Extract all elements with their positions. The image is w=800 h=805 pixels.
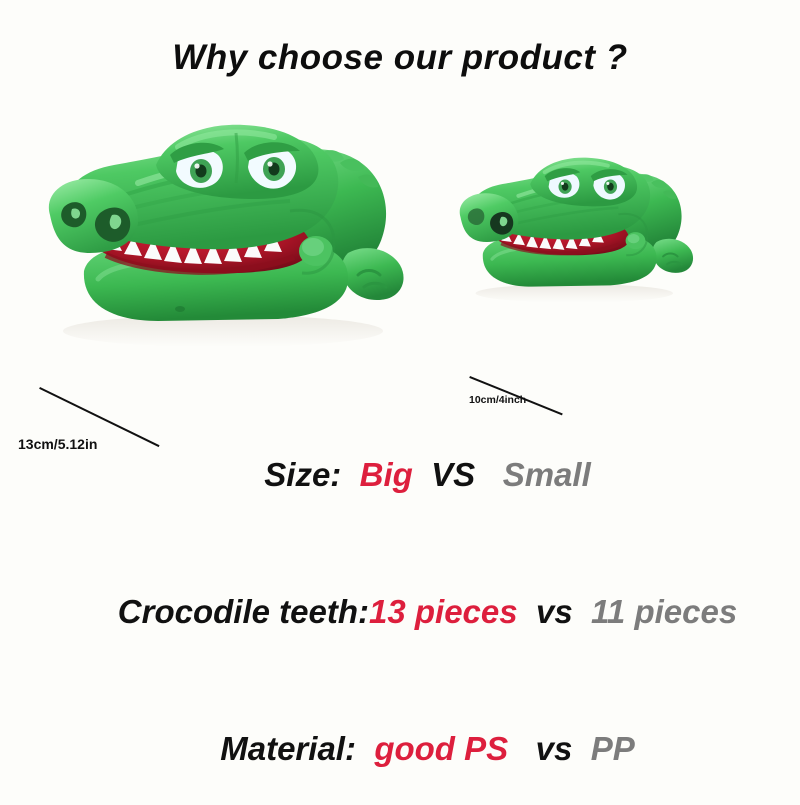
row-size-key: Size: <box>264 456 341 493</box>
row-size-gap1 <box>341 456 359 493</box>
comparison-row-teeth: Crocodile teeth:13 pieces vs 11 pieces <box>0 555 800 669</box>
product-comparison-page: Why choose our product ? <box>0 0 800 800</box>
croc-foot <box>653 239 694 273</box>
product-photo-area: 13cm/5.12in 10cm/4inch <box>0 95 800 395</box>
page-title: Why choose our product ? <box>0 38 800 78</box>
row-size-gap3 <box>475 456 503 493</box>
row-teeth-key: Crocodile teeth: <box>118 593 369 630</box>
row-size-gap2 <box>413 456 431 493</box>
row-teeth-vs: vs <box>536 593 573 630</box>
row-material-vs: vs <box>536 730 573 767</box>
row-material-key: Material: <box>220 730 356 767</box>
row-material-ours: good PS <box>374 730 508 767</box>
comparison-row-material: Material: good PS vs PP <box>0 692 800 805</box>
row-teeth-theirs: 11 pieces <box>591 593 737 630</box>
row-size-theirs: Small <box>503 456 591 493</box>
row-material-theirs: PP <box>591 730 635 767</box>
row-material-gap2 <box>508 730 536 767</box>
row-teeth-gap2 <box>518 593 536 630</box>
shadow <box>476 284 673 302</box>
row-teeth-ours: 13 pieces <box>369 593 518 630</box>
small-crocodile-toy-image <box>446 143 696 308</box>
big-crocodile-toy-image <box>28 103 408 353</box>
comparison-row-size: Size: Big VS Small <box>0 418 800 532</box>
comparison-table: Size: Big VS Small Crocodile teeth:13 pi… <box>0 418 800 805</box>
row-size-vs: VS <box>431 456 475 493</box>
row-teeth-gap3 <box>573 593 591 630</box>
croc-foot <box>342 248 404 300</box>
row-material-gap1 <box>356 730 374 767</box>
row-size-ours: Big <box>360 456 413 493</box>
small-measurement-label: 10cm/4inch <box>469 394 526 406</box>
row-material-gap3 <box>572 730 590 767</box>
